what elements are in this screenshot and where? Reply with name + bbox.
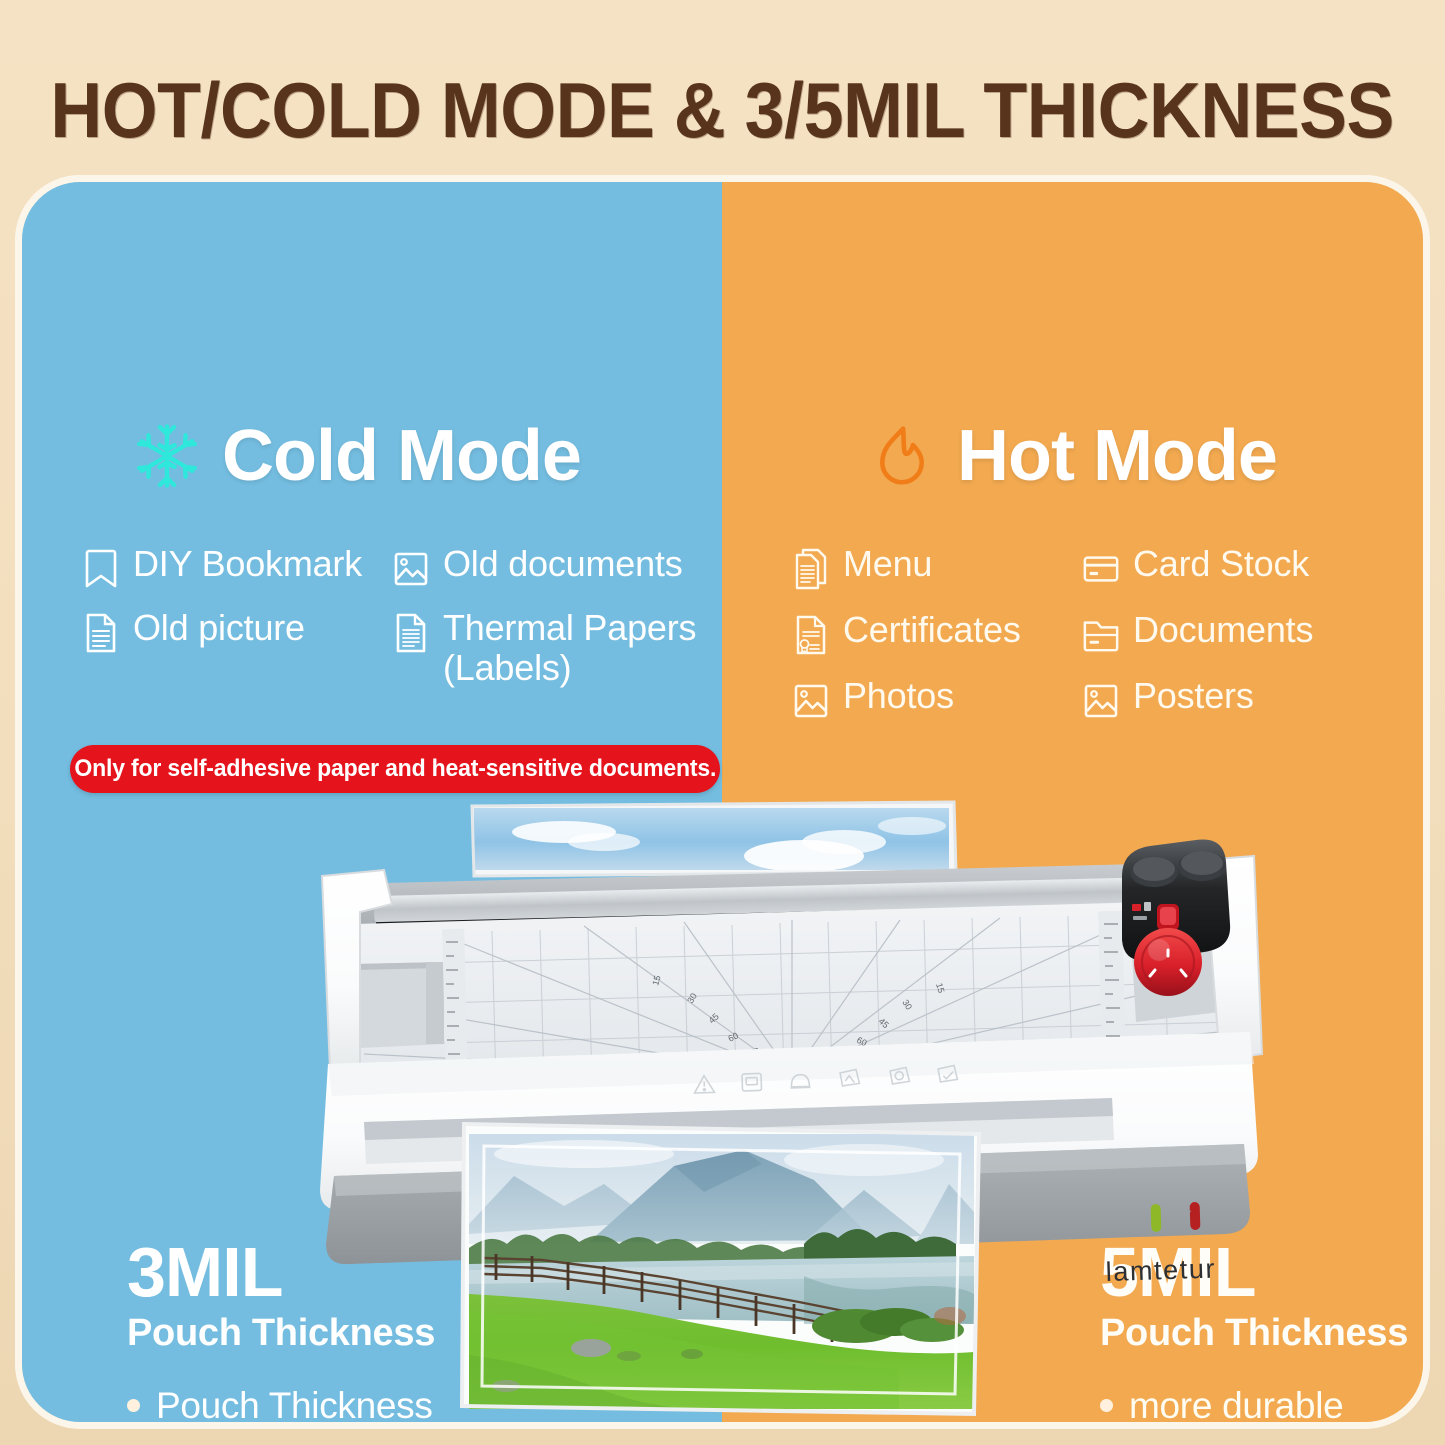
bullet-text: Pouch Thickness bbox=[156, 1387, 433, 1422]
hot-mode-panel bbox=[722, 182, 1423, 1422]
warning-text: Only for self-adhesive paper and heat-se… bbox=[74, 755, 716, 783]
cold-mode-title: Cold Mode bbox=[222, 420, 581, 492]
page-title: HOT/COLD MODE & 3/5MIL THICKNESS bbox=[51, 71, 1395, 149]
document-icon bbox=[82, 612, 120, 654]
feature-item: Menu bbox=[792, 544, 1082, 590]
thickness-subtitle: Pouch Thickness bbox=[127, 1313, 557, 1355]
cold-mode-warning-banner: Only for self-adhesive paper and heat-se… bbox=[70, 745, 720, 793]
feature-item: Photos bbox=[792, 676, 1082, 722]
cold-feature-list: DIY Bookmark Old documents Old bbox=[82, 544, 742, 689]
bullet-dot bbox=[1100, 1399, 1113, 1412]
photo-icon bbox=[792, 680, 830, 722]
feature-label: Photos bbox=[843, 676, 954, 716]
menu-pages-icon bbox=[792, 548, 830, 590]
feature-label: Card Stock bbox=[1133, 544, 1309, 584]
list-item: more durable bbox=[1100, 1387, 1423, 1422]
feature-item: Old picture bbox=[82, 608, 392, 689]
thickness-block-3mil: 3MIL Pouch Thickness Pouch Thickness cle… bbox=[127, 1237, 557, 1422]
flame-icon bbox=[867, 421, 937, 491]
feature-item: Card Stock bbox=[1082, 544, 1412, 590]
cold-mode-header: Cold Mode bbox=[132, 420, 581, 492]
thickness-subtitle: Pouch Thickness bbox=[1100, 1313, 1423, 1355]
snowflake-icon bbox=[132, 421, 202, 491]
feature-item: Thermal Papers (Labels) bbox=[392, 608, 742, 689]
thickness-bullets: more durable thicker finish rigid bbox=[1100, 1387, 1423, 1422]
page-title-bar: HOT/COLD MODE & 3/5MIL THICKNESS bbox=[0, 62, 1445, 158]
feature-label: Menu bbox=[843, 544, 932, 584]
thickness-value: 3MIL bbox=[127, 1237, 557, 1307]
folder-documents-icon bbox=[1082, 614, 1120, 656]
hot-mode-title: Hot Mode bbox=[957, 420, 1277, 492]
document-lines-icon bbox=[392, 612, 430, 654]
feature-label: Posters bbox=[1133, 676, 1254, 716]
hot-feature-list: Menu Card Stock bbox=[792, 544, 1412, 722]
feature-item: Certificates bbox=[792, 610, 1082, 656]
thickness-bullets: Pouch Thickness clear flinish profession… bbox=[127, 1387, 557, 1422]
feature-label: Old picture bbox=[133, 608, 305, 648]
feature-label: Thermal Papers (Labels) bbox=[443, 608, 696, 689]
image-icon bbox=[392, 548, 430, 590]
thickness-value: 5MIL bbox=[1100, 1237, 1423, 1307]
feature-item: Documents bbox=[1082, 610, 1412, 656]
bullet-dot bbox=[127, 1399, 140, 1412]
comparison-card: Cold Mode DIY Bookmark Old documents bbox=[22, 182, 1423, 1422]
card-stock-icon bbox=[1082, 548, 1120, 590]
list-item: Pouch Thickness bbox=[127, 1387, 557, 1422]
feature-item: DIY Bookmark bbox=[82, 544, 392, 590]
feature-label: Old documents bbox=[443, 544, 683, 584]
feature-label: Certificates bbox=[843, 610, 1021, 650]
feature-item: Old documents bbox=[392, 544, 742, 590]
feature-item: Posters bbox=[1082, 676, 1412, 722]
feature-label: Documents bbox=[1133, 610, 1313, 650]
certificate-icon bbox=[792, 614, 830, 656]
bullet-text: more durable bbox=[1129, 1387, 1343, 1422]
poster-icon bbox=[1082, 680, 1120, 722]
thickness-block-5mil: 5MIL Pouch Thickness more durable thicke… bbox=[1100, 1237, 1423, 1422]
bookmark-icon bbox=[82, 548, 120, 590]
hot-mode-header: Hot Mode bbox=[867, 420, 1277, 492]
feature-label: DIY Bookmark bbox=[133, 544, 362, 584]
